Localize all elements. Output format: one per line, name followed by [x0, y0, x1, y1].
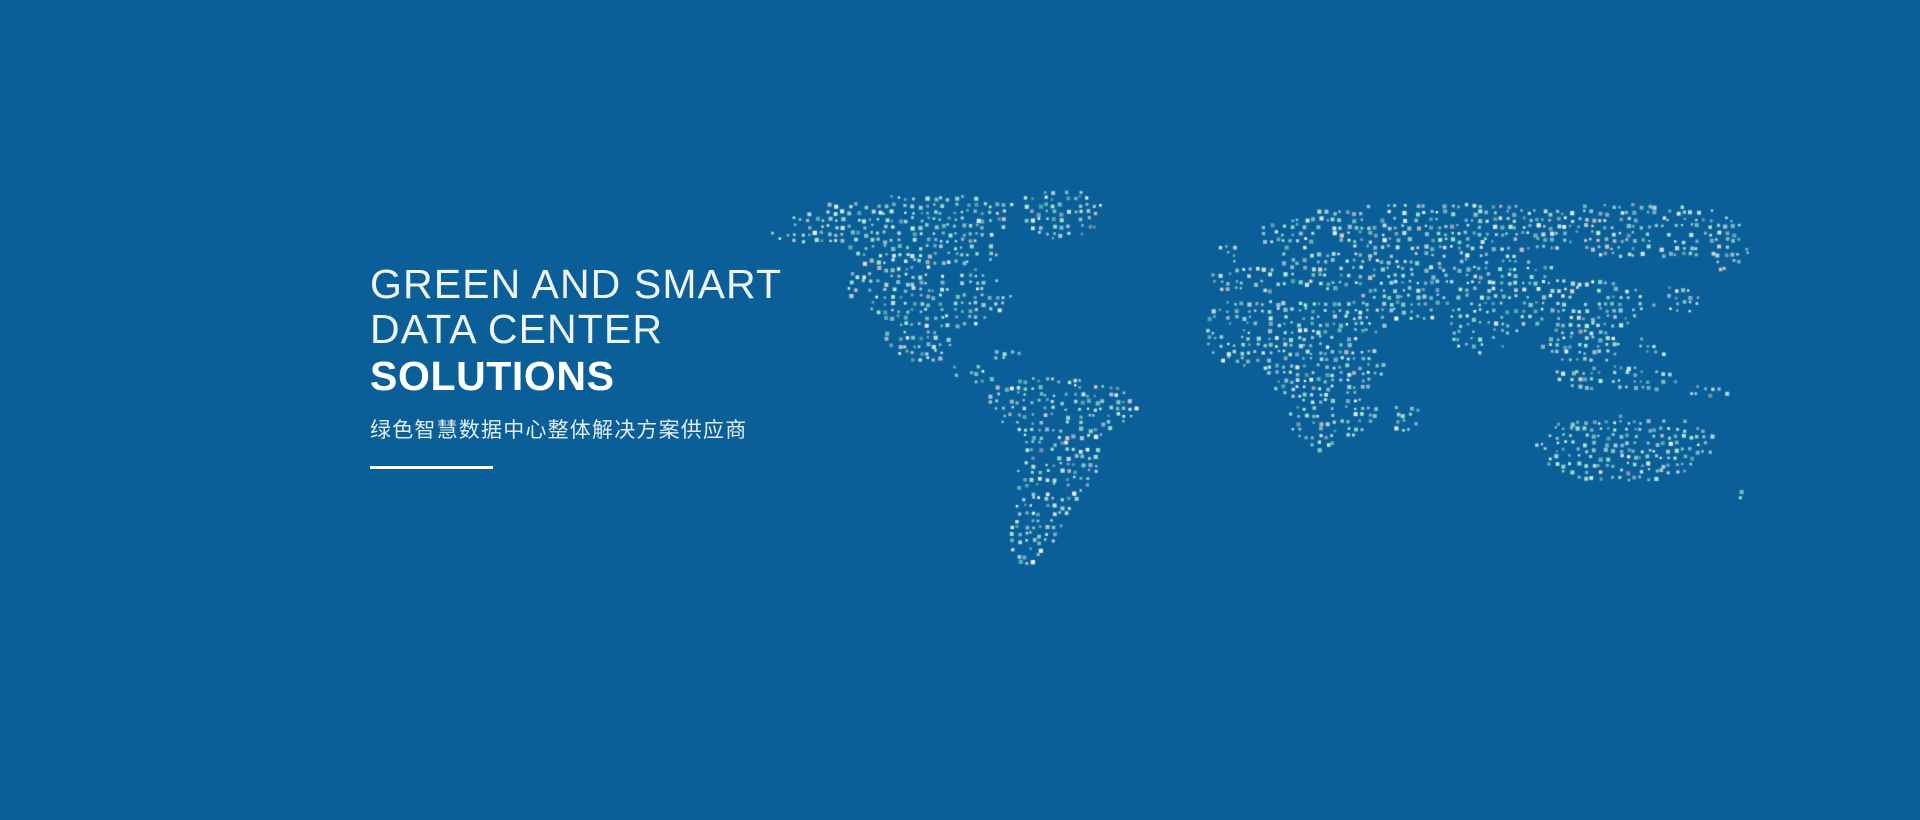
hero-text-block: GREEN AND SMART DATA CENTER SOLUTIONS 绿色… — [370, 262, 1130, 469]
headline-line-3: SOLUTIONS — [370, 354, 1130, 399]
divider-rule — [370, 466, 493, 469]
hero-banner: GREEN AND SMART DATA CENTER SOLUTIONS 绿色… — [0, 0, 1920, 820]
headline-line-1: GREEN AND SMART — [370, 262, 1130, 307]
headline-line-2: DATA CENTER — [370, 307, 1130, 352]
hero-subtitle: 绿色智慧数据中心整体解决方案供应商 — [370, 417, 1130, 445]
